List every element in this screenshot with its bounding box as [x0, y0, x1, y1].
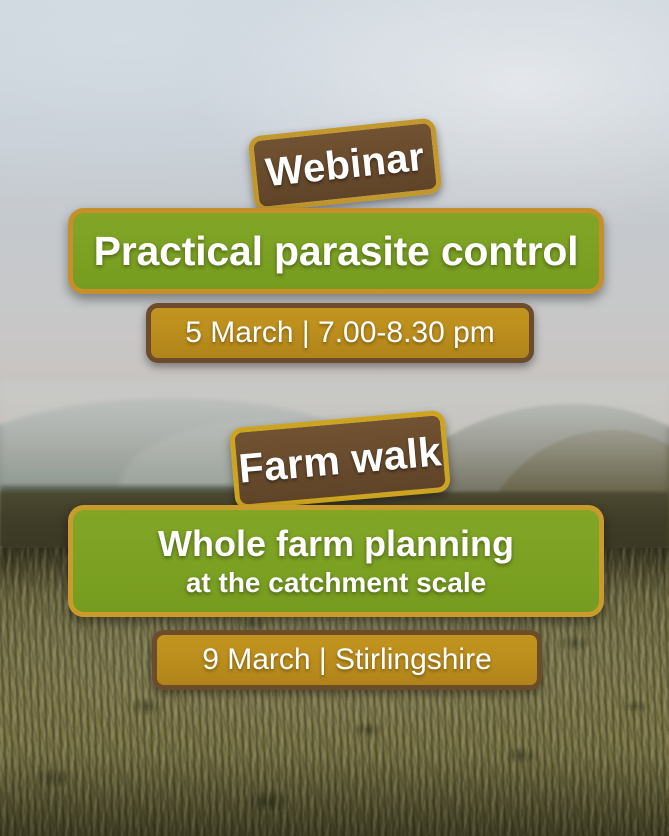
event-details-webinar: 5 March | 7.00-8.30 pm: [146, 303, 534, 363]
event-poster: Webinar Practical parasite control 5 Mar…: [0, 0, 669, 836]
event-banner-webinar: Practical parasite control: [68, 208, 604, 294]
event-title-farm-walk: Whole farm planning: [158, 524, 514, 564]
event-title-webinar: Practical parasite control: [94, 228, 579, 275]
event-subtitle-farm-walk: at the catchment scale: [186, 566, 486, 600]
event-tag-farm-walk: Farm walk: [229, 410, 451, 511]
event-banner-farm-walk: Whole farm planning at the catchment sca…: [68, 505, 604, 617]
poster-content: Webinar Practical parasite control 5 Mar…: [0, 0, 669, 836]
event-details-farm-walk: 9 March | Stirlingshire: [152, 630, 542, 690]
event-tag-webinar: Webinar: [248, 117, 443, 212]
